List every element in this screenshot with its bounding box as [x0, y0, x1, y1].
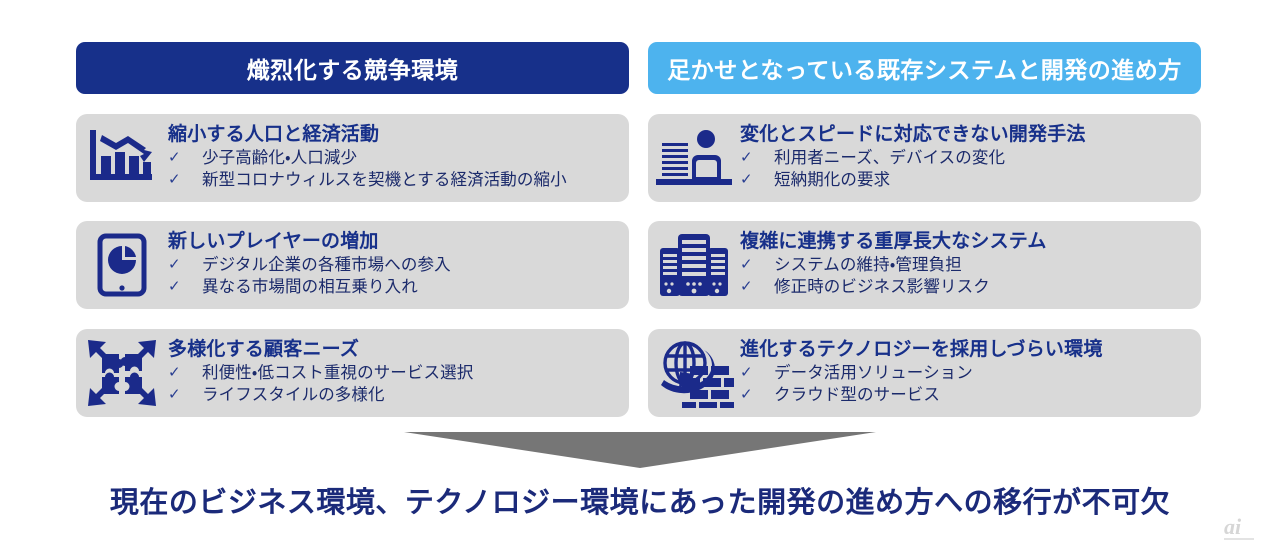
check-icon: ✓ — [168, 385, 202, 405]
conclusion-statement: 現在のビジネス環境、テクノロジー環境にあった開発の進め方への移行が不可欠 — [0, 479, 1280, 521]
card-title: 縮小する人口と経済活動 — [168, 124, 621, 146]
list-item: ✓利便性・低コスト重視のサービス選択 — [168, 363, 621, 385]
card-shrinking-population[interactable]: 縮小する人口と経済活動 ✓少子高齢化・人口減少 ✓新型コロナウィルスを契機とする… — [76, 114, 629, 202]
card-body: 複雑に連携する重厚長大なシステム ✓システムの維持・管理負担 ✓修正時のビジネス… — [740, 231, 1201, 298]
left-column: 熾烈化する競争環境 — [76, 42, 629, 94]
card-bullet-list: ✓デジタル企業の各種市場への参入 ✓異なる市場間の相互乗り入れ — [168, 255, 621, 299]
check-icon: ✓ — [740, 255, 774, 275]
card-title: 新しいプレイヤーの増加 — [168, 231, 621, 253]
card-bullet-list: ✓少子高齢化・人口減少 ✓新型コロナウィルスを契機とする経済活動の縮小 — [168, 148, 621, 192]
svg-text:ai: ai — [1224, 514, 1242, 539]
list-item: ✓利用者ニーズ、デバイスの変化 — [740, 148, 1193, 170]
list-item: ✓少子高齢化・人口減少 — [168, 148, 621, 170]
check-icon: ✓ — [740, 363, 774, 383]
list-item: ✓デジタル企業の各種市場への参入 — [168, 255, 621, 277]
list-item: ✓システムの維持・管理負担 — [740, 255, 1193, 277]
bullet-text: 短納期化の要求 — [774, 170, 890, 192]
bullet-text: クラウド型のサービス — [774, 385, 940, 407]
server-rack-icon — [648, 230, 740, 300]
bullet-text: 利便性・低コスト重視のサービス選択 — [202, 363, 473, 385]
slide-root: 熾烈化する競争環境 縮小する人口と経済活動 ✓少子高齢化・人口減少 — [0, 0, 1280, 554]
bullet-text: 少子高齢化・人口減少 — [202, 148, 357, 170]
bullet-text: 修正時のビジネス影響リスク — [774, 277, 990, 299]
bullet-text: ライフスタイルの多様化 — [202, 385, 385, 407]
left-column-header-label: 熾烈化する競争環境 — [247, 51, 459, 85]
bullet-text: デジタル企業の各種市場への参入 — [202, 255, 451, 277]
declining-bar-chart-icon — [76, 123, 168, 193]
bullet-text: 異なる市場間の相互乗り入れ — [202, 277, 418, 299]
right-column-header-label: 足かせとなっている既存システムと開発の進め方 — [667, 51, 1181, 85]
bullet-text: データ活用ソリューション — [774, 363, 973, 385]
card-bullet-list: ✓システムの維持・管理負担 ✓修正時のビジネス影響リスク — [740, 255, 1193, 299]
check-icon: ✓ — [168, 148, 202, 168]
check-icon: ✓ — [168, 363, 202, 383]
card-title: 進化するテクノロジーを採用しづらい環境 — [740, 339, 1193, 361]
list-item: ✓ライフスタイルの多様化 — [168, 385, 621, 407]
list-item: ✓短納期化の要求 — [740, 170, 1193, 192]
card-bullet-list: ✓利便性・低コスト重視のサービス選択 ✓ライフスタイルの多様化 — [168, 363, 621, 407]
check-icon: ✓ — [168, 277, 202, 297]
list-item: ✓クラウド型のサービス — [740, 385, 1193, 407]
bullet-text: 利用者ニーズ、デバイスの変化 — [774, 148, 1005, 170]
card-body: 進化するテクノロジーを採用しづらい環境 ✓データ活用ソリューション ✓クラウド型… — [740, 339, 1201, 406]
card-complex-legacy-system[interactable]: 複雑に連携する重厚長大なシステム ✓システムの維持・管理負担 ✓修正時のビジネス… — [648, 221, 1201, 309]
list-item: ✓異なる市場間の相互乗り入れ — [168, 277, 621, 299]
right-column-header: 足かせとなっている既存システムと開発の進め方 — [648, 42, 1201, 94]
card-title: 多様化する顧客ニーズ — [168, 339, 621, 361]
list-item: ✓新型コロナウィルスを契機とする経済活動の縮小 — [168, 170, 621, 192]
card-title: 複雑に連携する重厚長大なシステム — [740, 231, 1193, 253]
ai-logo: ai — [1220, 512, 1266, 546]
person-at-desk-icon — [648, 123, 740, 193]
check-icon: ✓ — [740, 385, 774, 405]
check-icon: ✓ — [168, 170, 202, 190]
right-column: 足かせとなっている既存システムと開発の進め方 — [648, 42, 1201, 94]
conclusion-text: 現在のビジネス環境、テクノロジー環境にあった開発の進め方への移行が不可欠 — [110, 487, 1170, 519]
list-item: ✓データ活用ソリューション — [740, 363, 1193, 385]
card-body: 変化とスピードに対応できない開発手法 ✓利用者ニーズ、デバイスの変化 ✓短納期化… — [740, 124, 1201, 191]
card-development-method[interactable]: 変化とスピードに対応できない開発手法 ✓利用者ニーズ、デバイスの変化 ✓短納期化… — [648, 114, 1201, 202]
puzzle-pieces-icon — [76, 338, 168, 408]
card-bullet-list: ✓データ活用ソリューション ✓クラウド型のサービス — [740, 363, 1193, 407]
card-diversifying-customer-needs[interactable]: 多様化する顧客ニーズ ✓利便性・低コスト重視のサービス選択 ✓ライフスタイルの多… — [76, 329, 629, 417]
card-technology-adoption-barrier[interactable]: 進化するテクノロジーを採用しづらい環境 ✓データ活用ソリューション ✓クラウド型… — [648, 329, 1201, 417]
card-body: 新しいプレイヤーの増加 ✓デジタル企業の各種市場への参入 ✓異なる市場間の相互乗… — [168, 231, 629, 298]
tablet-pie-chart-icon — [76, 230, 168, 300]
list-item: ✓修正時のビジネス影響リスク — [740, 277, 1193, 299]
check-icon: ✓ — [740, 277, 774, 297]
check-icon: ✓ — [740, 170, 774, 190]
left-column-header: 熾烈化する競争環境 — [76, 42, 629, 94]
bullet-text: 新型コロナウィルスを契機とする経済活動の縮小 — [202, 170, 567, 192]
card-bullet-list: ✓利用者ニーズ、デバイスの変化 ✓短納期化の要求 — [740, 148, 1193, 192]
card-body: 多様化する顧客ニーズ ✓利便性・低コスト重視のサービス選択 ✓ライフスタイルの多… — [168, 339, 629, 406]
down-arrow-banner — [404, 432, 876, 468]
card-body: 縮小する人口と経済活動 ✓少子高齢化・人口減少 ✓新型コロナウィルスを契機とする… — [168, 124, 629, 191]
check-icon: ✓ — [168, 255, 202, 275]
globe-firewall-icon — [648, 338, 740, 408]
card-new-players[interactable]: 新しいプレイヤーの増加 ✓デジタル企業の各種市場への参入 ✓異なる市場間の相互乗… — [76, 221, 629, 309]
bullet-text: システムの維持・管理負担 — [774, 255, 962, 277]
card-title: 変化とスピードに対応できない開発手法 — [740, 124, 1193, 146]
check-icon: ✓ — [740, 148, 774, 168]
